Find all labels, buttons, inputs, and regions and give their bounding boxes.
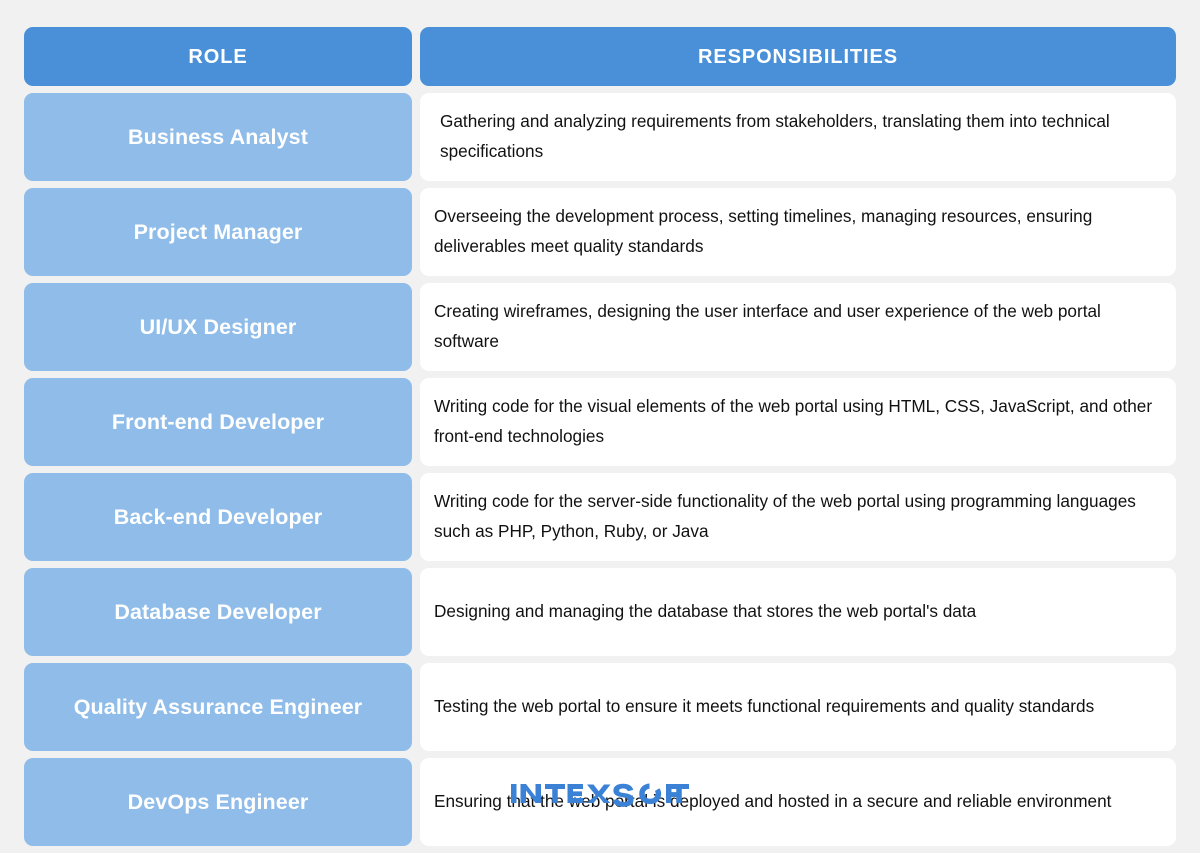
- responsibility-cell: Creating wireframes, designing the user …: [420, 283, 1176, 371]
- role-label: UI/UX Designer: [140, 314, 297, 341]
- responsibility-cell: Testing the web portal to ensure it meet…: [420, 663, 1176, 751]
- responsibility-text: Creating wireframes, designing the user …: [434, 297, 1160, 356]
- responsibility-text: Overseeing the development process, sett…: [434, 202, 1160, 261]
- responsibility-cell: Overseeing the development process, sett…: [420, 188, 1176, 276]
- role-label: Business Analyst: [128, 124, 308, 151]
- role-label: Quality Assurance Engineer: [74, 694, 363, 721]
- role-label: Front-end Developer: [112, 409, 324, 436]
- role-label: Back-end Developer: [114, 504, 323, 531]
- responsibility-cell: Designing and managing the database that…: [420, 568, 1176, 656]
- role-cell: Project Manager: [24, 188, 412, 276]
- role-cell: Database Developer: [24, 568, 412, 656]
- role-cell: Business Analyst: [24, 93, 412, 181]
- table-row: Project Manager Overseeing the developme…: [24, 188, 1176, 276]
- responsibility-cell: Writing code for the server-side functio…: [420, 473, 1176, 561]
- column-header-role: ROLE: [24, 27, 412, 86]
- role-cell: UI/UX Designer: [24, 283, 412, 371]
- responsibility-text: Gathering and analyzing requirements fro…: [440, 107, 1160, 166]
- role-label: Database Developer: [114, 599, 321, 626]
- responsibility-cell: Writing code for the visual elements of …: [420, 378, 1176, 466]
- footer-logo-container: INTEXSOFT: [0, 778, 1200, 808]
- infographic-page: ROLE RESPONSIBILITIES Business Analyst G…: [0, 0, 1200, 851]
- responsibility-text: Writing code for the server-side functio…: [434, 487, 1160, 546]
- responsibility-text: Writing code for the visual elements of …: [434, 392, 1160, 451]
- role-cell: Quality Assurance Engineer: [24, 663, 412, 751]
- role-label: Project Manager: [134, 219, 303, 246]
- table-row: Front-end Developer Writing code for the…: [24, 378, 1176, 466]
- column-header-responsibilities: RESPONSIBILITIES: [420, 27, 1176, 86]
- responsibility-text: Testing the web portal to ensure it meet…: [434, 692, 1094, 722]
- table-row: Database Developer Designing and managin…: [24, 568, 1176, 656]
- column-header-responsibilities-label: RESPONSIBILITIES: [698, 45, 898, 69]
- table-row: UI/UX Designer Creating wireframes, desi…: [24, 283, 1176, 371]
- table-header-row: ROLE RESPONSIBILITIES: [24, 27, 1176, 86]
- table-row: Back-end Developer Writing code for the …: [24, 473, 1176, 561]
- table-row: Business Analyst Gathering and analyzing…: [24, 93, 1176, 181]
- table-row: Quality Assurance Engineer Testing the w…: [24, 663, 1176, 751]
- responsibility-cell: Gathering and analyzing requirements fro…: [420, 93, 1176, 181]
- intexsoft-logo-icon: [511, 778, 689, 808]
- role-cell: Back-end Developer: [24, 473, 412, 561]
- responsibility-text: Designing and managing the database that…: [434, 597, 976, 627]
- column-header-role-label: ROLE: [188, 45, 247, 69]
- role-cell: Front-end Developer: [24, 378, 412, 466]
- roles-responsibilities-table: ROLE RESPONSIBILITIES Business Analyst G…: [24, 27, 1176, 853]
